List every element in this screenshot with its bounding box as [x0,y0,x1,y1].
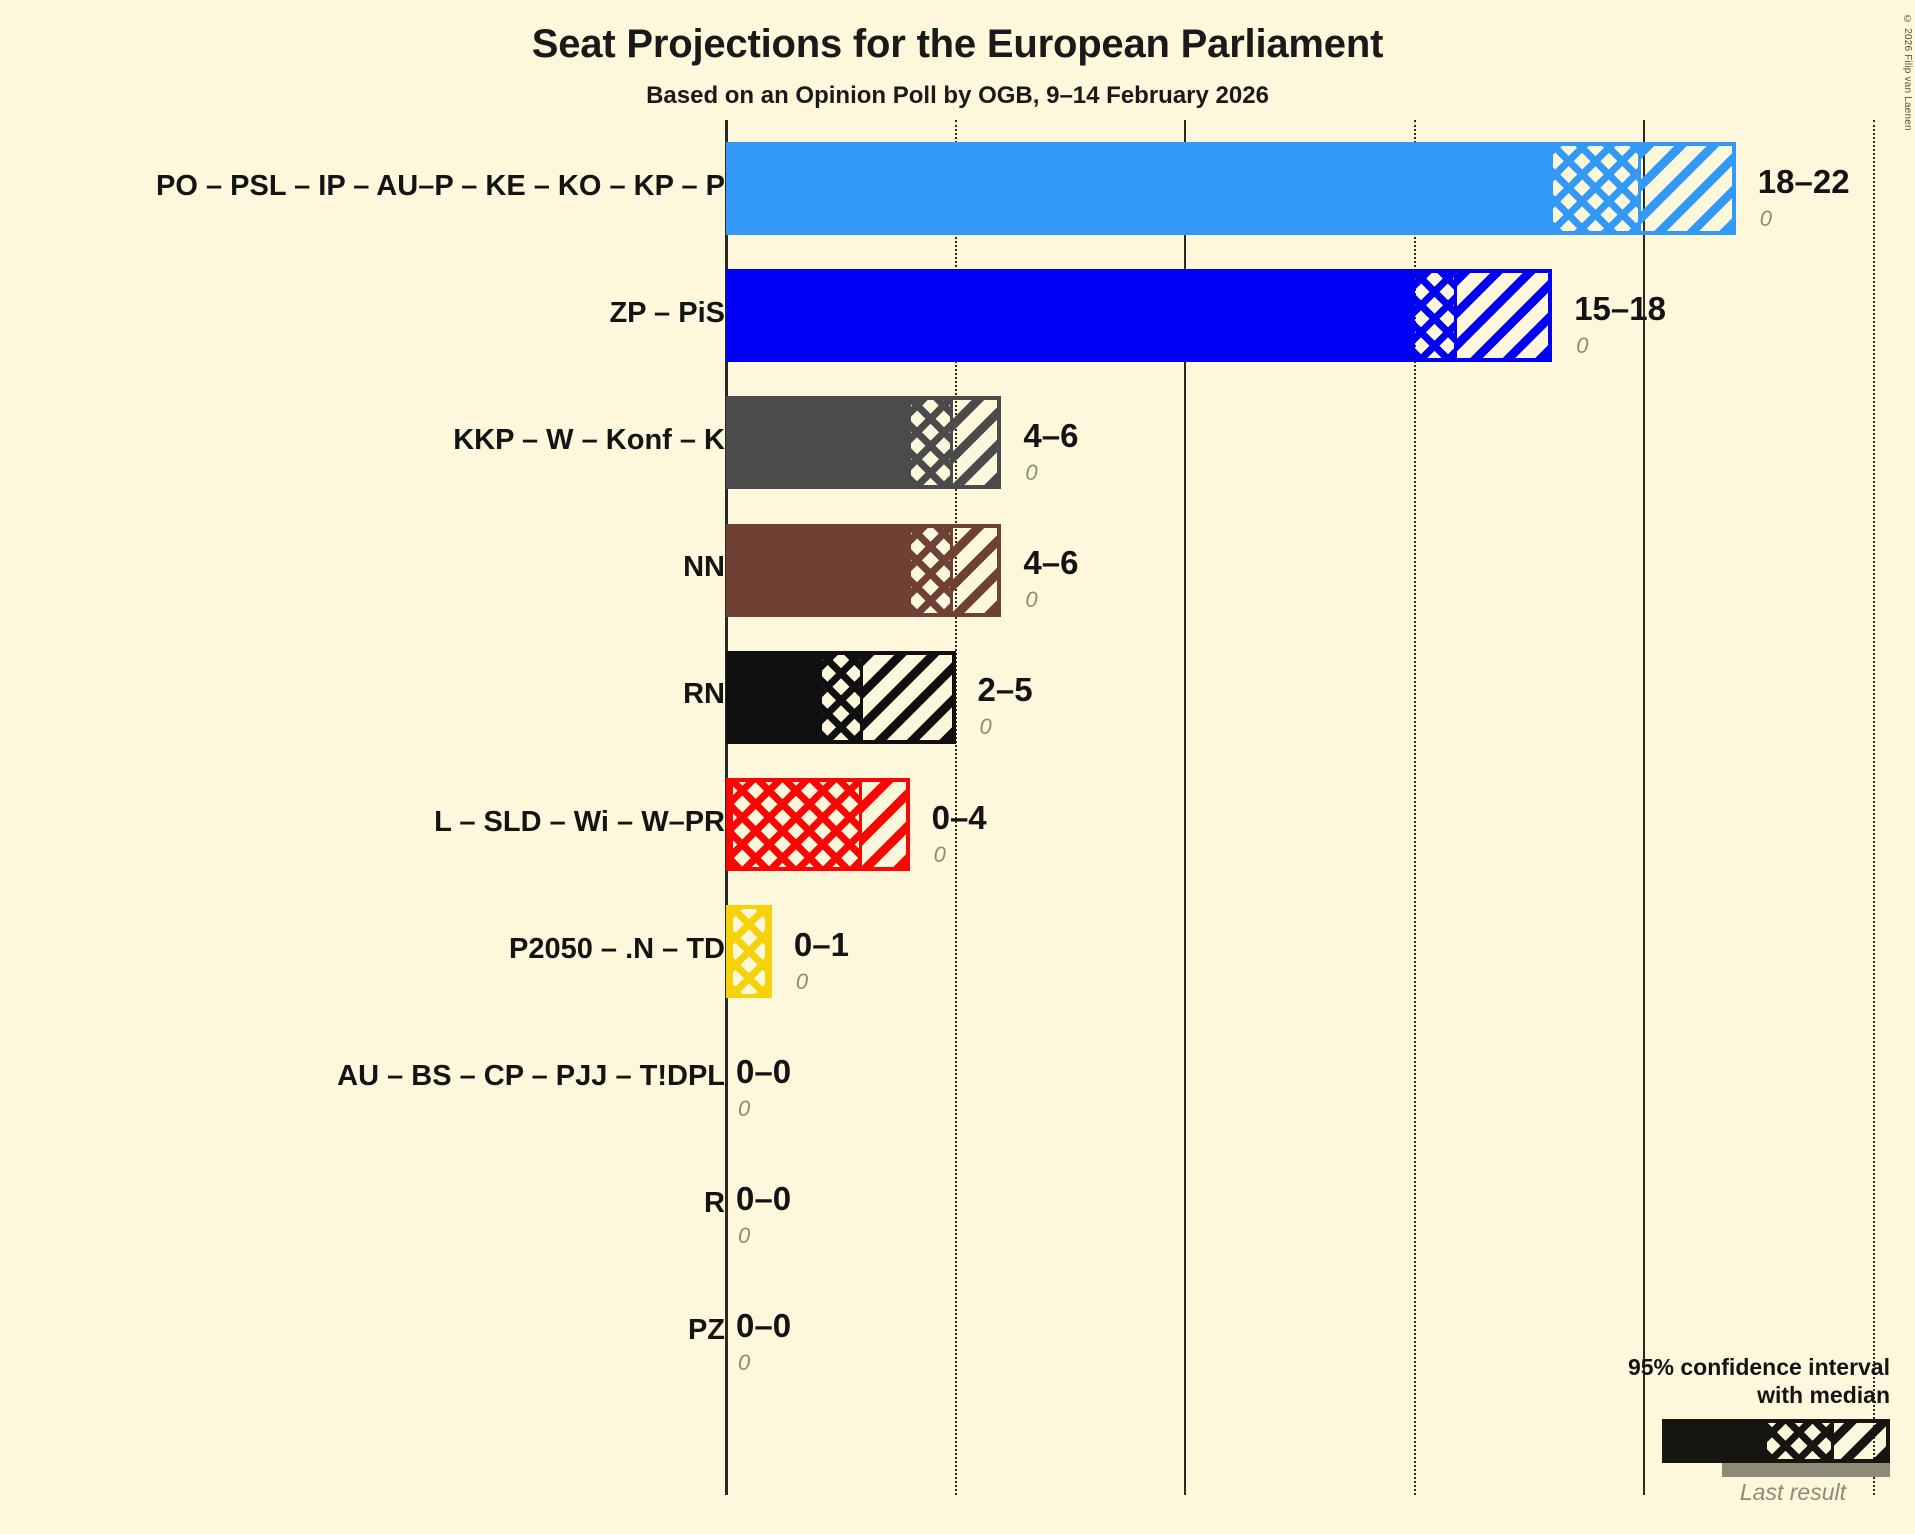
chart-row: RN2–50 [0,651,1915,744]
legend-last-result-label: Last result [1530,1479,1890,1506]
bar-wrapper [726,651,956,744]
chart-row: P2050 – .N – TD0–10 [0,905,1915,998]
chart-row: KKP – W – Konf – K4–60 [0,396,1915,489]
confidence-interval-bar [726,651,956,744]
bar-wrapper [726,269,1552,362]
chart-row: AU – BS – CP – PJJ – T!DPL0–00 [0,1032,1915,1125]
range-value-label: 15–18 [1574,292,1666,325]
bar-segment-diagonal [953,400,998,485]
row-label: KKP – W – Konf – K [25,424,725,457]
last-result-value: 0 [1760,208,1772,230]
bar-segment-crosshatch [730,909,768,994]
confidence-interval-bar [726,778,910,871]
legend-segment-crosshatch [1764,1423,1834,1459]
range-value-label: 2–5 [978,673,1033,706]
legend-last-result-bar [1722,1463,1890,1477]
confidence-interval-bar [726,524,1001,617]
plot-area: PO – PSL – IP – AU–P – KE – KO – KP – P1… [0,0,1915,1534]
row-label: PZ [25,1314,725,1347]
legend-line-2: with median [1530,1381,1890,1409]
chart-row: PO – PSL – IP – AU–P – KE – KO – KP – P1… [0,142,1915,235]
bar-segment-crosshatch [1550,146,1641,231]
row-label: AU – BS – CP – PJJ – T!DPL [25,1060,725,1093]
last-result-value: 0 [980,716,992,738]
last-result-value: 0 [738,1098,750,1120]
range-value-label: 0–0 [736,1309,791,1342]
bar-wrapper [726,905,772,998]
bar-segment-diagonal [1457,273,1548,358]
range-value-label: 0–1 [794,928,849,961]
range-value-label: 0–0 [736,1182,791,1215]
bar-segment-crosshatch [908,528,953,613]
bar-segment-solid [730,655,819,740]
confidence-interval-bar [726,396,1001,489]
bar-segment-diagonal [863,655,952,740]
last-result-value: 0 [738,1352,750,1374]
chart-row: NN4–60 [0,524,1915,617]
chart-row: ZP – PiS15–180 [0,269,1915,362]
bar-segment-solid [730,273,1412,358]
bar-segment-solid [730,146,1550,231]
bar-wrapper [726,396,1001,489]
bar-wrapper [726,142,1736,235]
bar-segment-crosshatch [819,655,863,740]
bar-wrapper [726,524,1001,617]
row-label: PO – PSL – IP – AU–P – KE – KO – KP – P [25,170,725,203]
bar-segment-crosshatch [1412,273,1458,358]
row-label: ZP – PiS [25,297,725,330]
bar-segment-diagonal [862,782,906,867]
legend-segment-solid [1666,1423,1764,1459]
confidence-interval-bar [726,269,1552,362]
row-label: NN [25,551,725,584]
chart-root: Seat Projections for the European Parlia… [0,0,1915,1534]
confidence-interval-bar [726,905,772,998]
row-label: R [25,1187,725,1220]
bar-segment-crosshatch [730,782,862,867]
range-value-label: 0–4 [932,801,987,834]
chart-row: L – SLD – Wi – W–PR0–40 [0,778,1915,871]
bar-segment-solid [730,528,908,613]
last-result-value: 0 [1025,462,1037,484]
bar-segment-diagonal [1641,146,1732,231]
bar-segment-solid [730,400,908,485]
last-result-value: 0 [1025,589,1037,611]
bar-segment-diagonal [953,528,998,613]
last-result-value: 0 [1576,335,1588,357]
chart-legend: 95% confidence interval with median Last… [1530,1353,1890,1506]
bar-segment-crosshatch [908,400,953,485]
bar-wrapper [726,778,910,871]
row-label: P2050 – .N – TD [25,933,725,966]
chart-row: R0–00 [0,1160,1915,1253]
range-value-label: 0–0 [736,1055,791,1088]
range-value-label: 4–6 [1023,546,1078,579]
legend-sample-bar [1662,1419,1890,1463]
last-result-value: 0 [796,971,808,993]
range-value-label: 4–6 [1023,419,1078,452]
range-value-label: 18–22 [1758,165,1850,198]
row-label: L – SLD – Wi – W–PR [25,806,725,839]
confidence-interval-bar [726,142,1736,235]
row-label: RN [25,678,725,711]
last-result-value: 0 [738,1225,750,1247]
last-result-value: 0 [934,844,946,866]
legend-segment-diagonal [1834,1423,1886,1459]
legend-line-1: 95% confidence interval [1530,1353,1890,1381]
